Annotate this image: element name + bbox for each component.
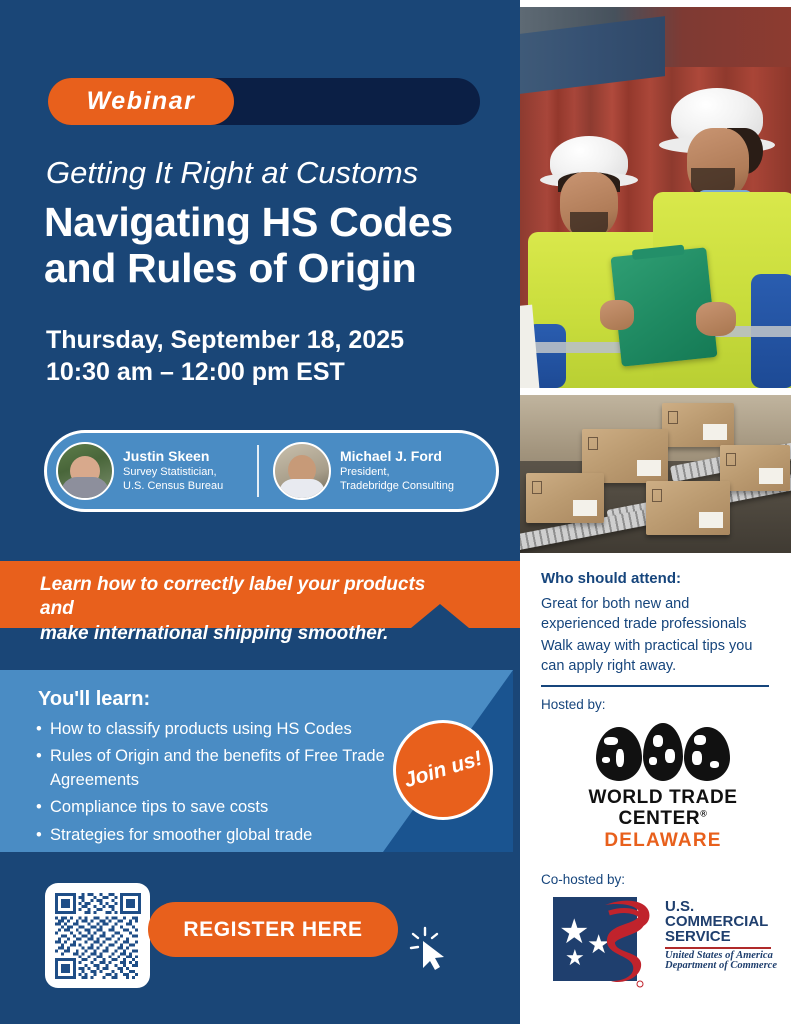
left-content-column: Webinar Getting It Right at Customs Navi…: [0, 0, 513, 1024]
speaker-role-line1: Survey Statistician,: [123, 465, 223, 479]
star-icon: ★: [565, 947, 585, 969]
learn-list: How to classify products using HS Codes …: [36, 718, 396, 851]
registration-qr-code[interactable]: [55, 893, 141, 979]
speaker-name: Michael J. Ford: [340, 448, 454, 465]
wtc-center-word: CENTER: [619, 808, 701, 829]
join-us-label: Join us!: [401, 747, 485, 793]
qr-code-card[interactable]: [45, 883, 150, 988]
speaker-divider: [257, 445, 259, 497]
page-title: Navigating HS Codes and Rules of Origin: [44, 200, 514, 292]
list-item: How to classify products using HS Codes: [36, 718, 396, 741]
title-line-2: and Rules of Origin: [44, 246, 514, 292]
speaker-role-line2: U.S. Census Bureau: [123, 479, 223, 493]
uscs-sub-2: Department of Commerce: [665, 961, 777, 972]
uscs-line-3: SERVICE: [665, 929, 777, 944]
cohosted-by-label: Co-hosted by:: [541, 872, 625, 887]
click-cursor-icon: [408, 924, 454, 972]
wtc-line-3: DELAWARE: [563, 830, 763, 853]
attend-paragraph-1: Great for both new and experienced trade…: [541, 595, 769, 634]
hosted-by-label: Hosted by:: [541, 697, 606, 712]
avatar: [273, 442, 331, 500]
banner-line-1: Learn how to correctly label your produc…: [40, 574, 425, 619]
speakers-card: Justin Skeen Survey Statistician, U.S. C…: [44, 430, 499, 512]
uscs-wordmark: U.S. COMMERCIAL SERVICE United States of…: [665, 899, 777, 972]
banner-line-2: make international shipping smoother.: [40, 623, 388, 644]
list-item: Rules of Origin and the benefits of Free…: [36, 745, 396, 792]
star-icon: ★: [559, 915, 589, 949]
title-line-1: Navigating HS Codes: [44, 200, 514, 246]
speaker-role-line1: President,: [340, 465, 454, 479]
us-commercial-service-logo: ★ ★ ★ U.S. COMMERCIAL SERVICE United Sta…: [553, 893, 773, 989]
uscs-line-1: U.S.: [665, 899, 777, 914]
event-datetime: Thursday, September 18, 2025 10:30 am – …: [46, 324, 516, 388]
register-button[interactable]: REGISTER HERE: [148, 902, 398, 957]
attend-heading: Who should attend:: [541, 570, 769, 587]
world-trade-center-delaware-logo: ® WORLD TRADE CENTER® DELAWARE: [563, 723, 763, 852]
list-item: Compliance tips to save costs: [36, 796, 396, 819]
column-edge-strip-orange: [513, 561, 520, 628]
list-item: Strategies for smoother global trade: [36, 824, 396, 847]
wtc-line-2: CENTER®: [563, 808, 763, 829]
right-info-column: Who should attend: Great for both new an…: [513, 0, 791, 1024]
uscs-divider: [665, 947, 771, 949]
speaker-michael-ford: Michael J. Ford President, Tradebridge C…: [259, 433, 484, 509]
photo-workers-containers: [520, 7, 791, 388]
column-edge-strip: [513, 0, 520, 1024]
avatar: [56, 442, 114, 500]
speaker-justin-skeen: Justin Skeen Survey Statistician, U.S. C…: [47, 433, 257, 509]
register-button-label: REGISTER HERE: [183, 918, 362, 942]
webinar-flyer: Webinar Getting It Right at Customs Navi…: [0, 0, 791, 1024]
event-date: Thursday, September 18, 2025: [46, 324, 516, 356]
speaker-name: Justin Skeen: [123, 448, 223, 465]
banner-notch-triangle: [411, 604, 469, 628]
wtc-line-1: WORLD TRADE: [563, 787, 763, 808]
registration-section: REGISTER HERE: [0, 852, 513, 1024]
red-swoosh-icon: [599, 893, 659, 989]
event-time: 10:30 am – 12:00 pm EST: [46, 356, 516, 388]
learn-heading: You'll learn:: [38, 688, 150, 711]
wtc-registered-mark: ®: [700, 809, 707, 819]
globe-icon: ®: [563, 723, 763, 781]
kicker-text: Getting It Right at Customs: [46, 155, 506, 191]
attend-paragraph-2: Walk away with practical tips you can ap…: [541, 637, 769, 676]
webinar-badge: Webinar: [48, 78, 234, 125]
section-divider: [541, 685, 769, 687]
webinar-badge-row: Webinar: [48, 78, 480, 125]
join-us-badge: Join us!: [393, 720, 493, 820]
uscs-line-2: COMMERCIAL: [665, 914, 777, 929]
speaker-role-line2: Tradebridge Consulting: [340, 479, 454, 493]
photo-boxes-conveyor: [520, 395, 791, 553]
webinar-badge-label: Webinar: [87, 87, 196, 116]
